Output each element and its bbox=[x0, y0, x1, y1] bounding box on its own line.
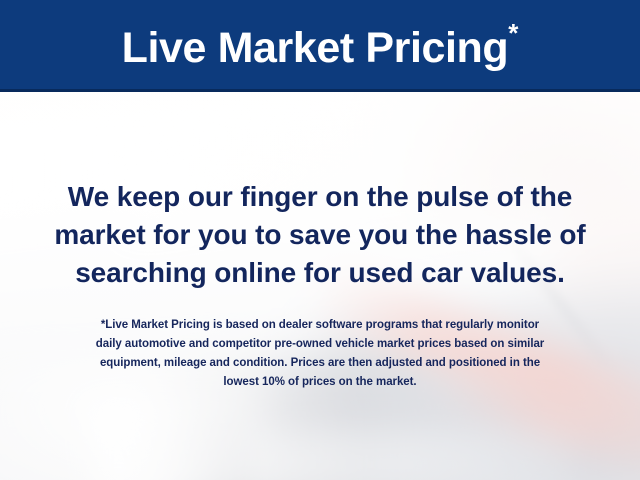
disclaimer-line: lowest 10% of prices on the market. bbox=[0, 373, 640, 392]
background-chrome-highlight bbox=[250, 430, 570, 480]
page-title: Live Market Pricing* bbox=[122, 20, 519, 70]
page-title-text: Live Market Pricing bbox=[122, 24, 509, 72]
headline-line: searching online for used car values. bbox=[0, 254, 640, 292]
page-title-asterisk: * bbox=[508, 18, 518, 48]
headline-block: We keep our finger on the pulse of the m… bbox=[0, 178, 640, 292]
disclaimer-block: *Live Market Pricing is based on dealer … bbox=[0, 316, 640, 392]
header-band: Live Market Pricing* bbox=[0, 0, 640, 92]
disclaimer-line: equipment, mileage and condition. Prices… bbox=[0, 354, 640, 373]
disclaimer-line: daily automotive and competitor pre-owne… bbox=[0, 335, 640, 354]
disclaimer-line: *Live Market Pricing is based on dealer … bbox=[0, 316, 640, 335]
headline-line: market for you to save you the hassle of bbox=[0, 216, 640, 254]
headline-line: We keep our finger on the pulse of the bbox=[0, 178, 640, 216]
live-market-pricing-banner: Live Market Pricing* We keep our finger … bbox=[0, 0, 640, 480]
